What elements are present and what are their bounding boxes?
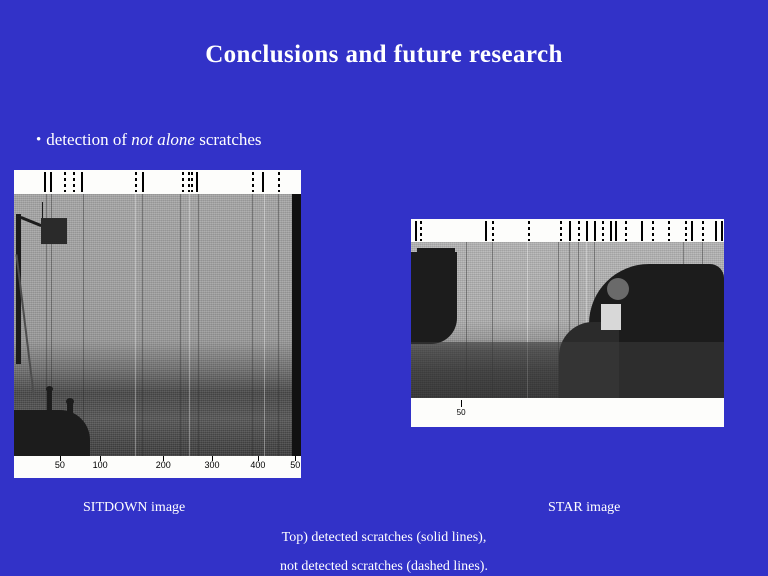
not-detected-scratch-tick	[73, 172, 75, 192]
not-detected-scratch-tick	[278, 172, 280, 192]
film-scratch	[135, 194, 136, 456]
boat-hull-shape	[14, 410, 90, 456]
left-ship-bow-shape	[411, 252, 457, 344]
detected-scratch-tick	[485, 221, 487, 241]
photo-right-dark-band	[292, 194, 301, 456]
not-detected-scratch-tick	[578, 221, 580, 241]
axis-tick-label: 200	[156, 460, 171, 470]
detected-scratch-tick	[81, 172, 83, 192]
detected-scratch-tick	[415, 221, 417, 241]
detected-scratch-tick	[196, 172, 198, 192]
hull-porthole-shape	[607, 278, 629, 300]
detected-scratch-tick	[569, 221, 571, 241]
not-detected-scratch-tick	[492, 221, 494, 241]
not-detected-scratch-tick	[668, 221, 670, 241]
caption-detected-scratches: Top) detected scratches (solid lines),	[0, 530, 768, 546]
axis-tick	[461, 400, 462, 407]
axis-tick-label: 100	[93, 460, 108, 470]
standing-person-shape	[47, 390, 52, 414]
star-photograph	[411, 242, 724, 398]
film-scratch	[264, 194, 265, 456]
slide-canvas: Conclusions and future research •detecti…	[0, 0, 768, 576]
caption-star-image: STAR image	[548, 500, 620, 516]
detected-scratch-tick	[44, 172, 46, 192]
not-detected-scratch-tick	[135, 172, 137, 192]
not-detected-scratch-tick	[64, 172, 66, 192]
not-detected-scratch-tick	[560, 221, 562, 241]
film-scratch	[252, 194, 253, 456]
axis-tick-label: 50	[290, 460, 300, 470]
standing-person-head-shape	[46, 386, 53, 392]
film-scratch	[198, 194, 199, 456]
bullet-text-after: scratches	[195, 130, 262, 149]
detected-scratch-tick	[262, 172, 264, 192]
film-scratch	[83, 194, 84, 456]
not-detected-scratch-tick	[685, 221, 687, 241]
cargo-cable-shape	[42, 202, 43, 218]
film-scratch	[180, 194, 181, 456]
sitdown-photograph	[14, 194, 301, 456]
figure-sitdown-image: 5010020030040050	[14, 170, 301, 478]
detected-scratch-tick	[586, 221, 588, 241]
detected-scratch-tick	[715, 221, 717, 241]
detected-scratch-tick	[691, 221, 693, 241]
sea-band-shape	[411, 342, 724, 398]
bullet-text-before: detection of	[46, 130, 131, 149]
caption-sitdown-image: SITDOWN image	[83, 500, 185, 516]
detected-scratch-tick	[610, 221, 612, 241]
detected-scratch-tick	[721, 221, 723, 241]
film-scratch	[142, 194, 143, 456]
film-scratch	[189, 194, 190, 456]
star-axis-strip: 50	[411, 398, 724, 427]
bullet-item: •detection of not alone scratches	[36, 130, 262, 150]
detected-scratch-tick	[615, 221, 617, 241]
bullet-marker-icon: •	[36, 132, 41, 148]
axis-tick-label: 300	[205, 460, 220, 470]
axis-tick-label: 50	[55, 460, 65, 470]
not-detected-scratch-tick	[191, 172, 193, 192]
detected-scratch-tick	[142, 172, 144, 192]
caption-not-detected-scratches: not detected scratches (dashed lines).	[0, 559, 768, 575]
not-detected-scratch-tick	[420, 221, 422, 241]
not-detected-scratch-tick	[625, 221, 627, 241]
axis-tick-label: 400	[250, 460, 265, 470]
hull-marking-shape	[601, 304, 621, 330]
detected-scratch-tick	[594, 221, 596, 241]
detected-scratch-tick	[50, 172, 52, 192]
figure-star-image: 50	[411, 219, 724, 427]
not-detected-scratch-tick	[702, 221, 704, 241]
left-ship-deck-shape	[417, 248, 455, 256]
not-detected-scratch-tick	[602, 221, 604, 241]
not-detected-scratch-tick	[652, 221, 654, 241]
film-scratch	[278, 194, 279, 456]
not-detected-scratch-tick	[188, 172, 190, 192]
cargo-load-shape	[41, 218, 67, 244]
detected-scratch-tick	[641, 221, 643, 241]
axis-tick-label: 50	[457, 408, 466, 417]
sitdown-scratch-tick-strip	[14, 170, 301, 194]
seated-person-shape	[67, 403, 73, 417]
not-detected-scratch-tick	[182, 172, 184, 192]
sitdown-axis-strip: 5010020030040050	[14, 456, 301, 478]
page-title: Conclusions and future research	[0, 41, 768, 69]
seated-person-head-shape	[66, 398, 74, 405]
star-scratch-tick-strip	[411, 219, 724, 242]
not-detected-scratch-tick	[528, 221, 530, 241]
bullet-text-emphasis: not alone	[131, 130, 195, 149]
not-detected-scratch-tick	[252, 172, 254, 192]
